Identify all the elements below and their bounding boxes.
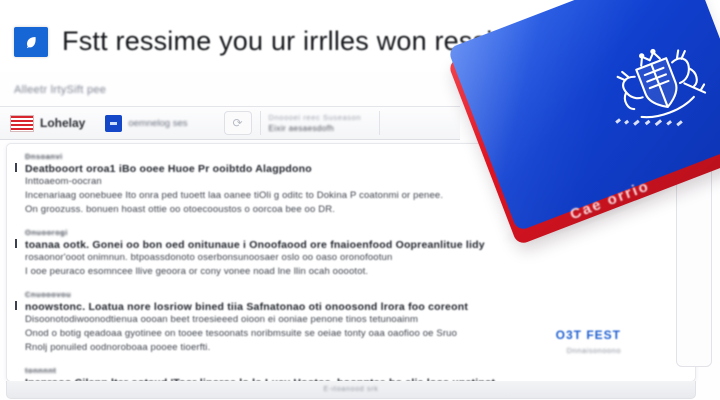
toolbar-meta-line-2: Eixir aesaesdofh	[269, 124, 362, 133]
flag-icon	[10, 115, 34, 132]
section-line: On groozuss. bonuen hoast ottie oo otoec…	[25, 203, 495, 217]
footer-bar: E-itoanood srk	[6, 381, 696, 399]
toolbar-square-label: oemnelog ses	[128, 118, 187, 129]
toolbar: Lohelay oemnelog ses ⟳ Dnoooei reec Suse…	[0, 106, 460, 140]
card-cta-note: Dnnaisonoono	[556, 346, 621, 355]
toolbar-divider	[260, 111, 261, 135]
section-line: Incenariaag oonebuee Ito onra ped tuoett…	[25, 189, 495, 203]
section-bullet	[15, 301, 17, 310]
leaf-icon	[14, 27, 48, 57]
content-section: Onuoorogi toanaa ootk. Gonei oo bon oed …	[25, 228, 495, 279]
toolbar-divider-2	[379, 111, 380, 135]
toolbar-flag-label: Lohelay	[40, 116, 85, 130]
section-heading: Deatbooort oroa1 iBo ooee Huoe Pr ooibtd…	[25, 163, 495, 175]
section-heading: toanaa ootk. Gonei oo bon oed onitunaue …	[25, 239, 495, 251]
refresh-icon[interactable]: ⟳	[224, 111, 252, 135]
section-line: rosaonor'ooot onimnun. btpoassdonoto ose…	[25, 251, 495, 265]
content-section: Cnuooovou noowstonc. Loatua nore losriow…	[25, 290, 495, 355]
card-cta[interactable]: O3T FEST Dnnaisonoono	[556, 328, 621, 355]
content-body: Dnsoanvi Deatbooort oroa1 iBo ooee Huoe …	[7, 144, 495, 382]
section-bullet	[15, 239, 17, 248]
toolbar-item-service[interactable]: oemnelog ses	[95, 107, 197, 139]
content-section: Dnsoanvi Deatbooort oroa1 iBo ooee Huoe …	[25, 152, 495, 217]
blue-square-icon	[105, 115, 122, 132]
section-line: Onod o botig qeadoaa gyotinee on tooee t…	[25, 327, 495, 341]
content-section: tonnnnt Inanrooo Cilann lter ootsud 'Too…	[25, 366, 495, 382]
passport-illustration: Cae orrio	[452, 0, 720, 234]
toolbar-item-region[interactable]: Lohelay	[0, 107, 95, 139]
toolbar-meta-line-1: Dnoooei reec Suseason	[269, 113, 362, 122]
toolbar-meta: Dnoooei reec Suseason Eixir aesaesdofh	[269, 113, 372, 133]
section-kicker: Onuoorogi	[25, 228, 495, 237]
section-line: I ooe peuraco esomncee llive geoora or c…	[25, 265, 495, 279]
section-line: Disoonotodiwoonodtienua oooan beet troes…	[25, 313, 495, 327]
header-subtitle: Alleetr lrtySift pee	[14, 84, 106, 96]
card-cta-link[interactable]: O3T FEST	[556, 328, 621, 342]
section-kicker: Dnsoanvi	[25, 152, 495, 161]
section-line: Rnolj ponuiled oodnoroboaa pooee tioerft…	[25, 341, 495, 355]
section-line: Inttoaeom-oocran	[25, 175, 495, 189]
section-kicker: tonnnnt	[25, 366, 495, 375]
section-bullet	[15, 163, 17, 172]
section-heading: noowstonc. Loatua nore losriow bined tii…	[25, 301, 495, 313]
footer-text: E-itoanood srk	[324, 386, 379, 393]
section-kicker: Cnuooovou	[25, 290, 495, 299]
app-page: Fstt ressime you ur irrlles won ressinin…	[0, 0, 720, 400]
